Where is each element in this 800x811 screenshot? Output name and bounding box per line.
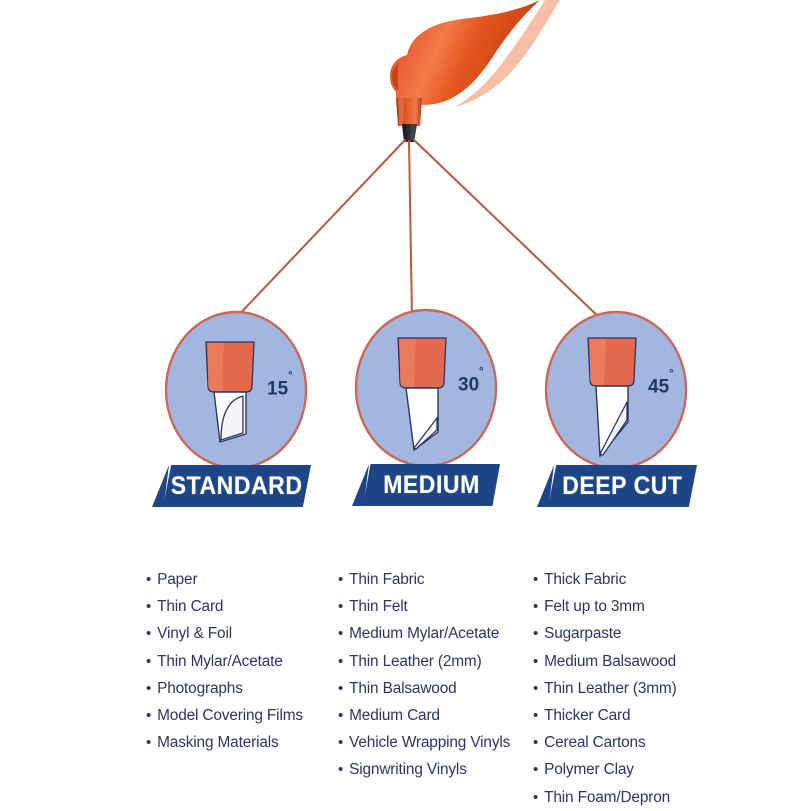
list-item: •Thin Foam/Depron [533, 784, 677, 811]
list-item: •Cereal Cartons [533, 729, 677, 756]
materials-column-deepcut: •Thick Fabric•Felt up to 3mm•Sugarpaste•… [533, 566, 677, 811]
bullet-icon: • [146, 593, 151, 620]
list-item: •Polymer Clay [533, 756, 677, 783]
list-item-label: Felt up to 3mm [544, 593, 645, 620]
list-item-label: Cereal Cartons [544, 729, 645, 756]
connector-lines [232, 140, 604, 322]
bullet-icon: • [146, 566, 151, 593]
list-item: •Model Covering Films [146, 702, 303, 729]
bullet-icon: • [338, 620, 343, 647]
list-item: •Thin Mylar/Acetate [146, 648, 303, 675]
list-item: •Thin Fabric [338, 566, 510, 593]
list-item: •Medium Card [338, 702, 510, 729]
list-item-label: Vehicle Wrapping Vinyls [349, 729, 510, 756]
list-item: •Thick Fabric [533, 566, 677, 593]
blade-group-standard[interactable]: 15° [156, 310, 316, 470]
bullet-icon: • [338, 729, 343, 756]
banner-medium[interactable]: MEDIUM [363, 464, 500, 506]
list-item-label: Signwriting Vinyls [349, 756, 467, 783]
list-item-label: Thin Leather (2mm) [349, 648, 481, 675]
bullet-icon: • [533, 648, 538, 675]
bullet-icon: • [338, 566, 343, 593]
list-item: •Thicker Card [533, 702, 677, 729]
list-item-label: Sugarpaste [544, 620, 621, 647]
bullet-icon: • [533, 566, 538, 593]
bullet-icon: • [338, 648, 343, 675]
list-item: •Medium Balsawood [533, 648, 677, 675]
bullet-icon: • [533, 675, 538, 702]
list-item: •Signwriting Vinyls [338, 756, 510, 783]
list-item-label: Model Covering Films [157, 702, 303, 729]
list-item-label: Vinyl & Foil [157, 620, 232, 647]
list-item: •Masking Materials [146, 729, 303, 756]
angle-label-standard: 15° [267, 378, 293, 400]
bullet-icon: • [146, 702, 151, 729]
list-item: •Thin Balsawood [338, 675, 510, 702]
banner-label-medium: MEDIUM [383, 471, 480, 500]
list-item: •Medium Mylar/Acetate [338, 620, 510, 647]
bullet-icon: • [146, 675, 151, 702]
list-item-label: Medium Balsawood [544, 648, 676, 675]
connector-line-standard [232, 140, 405, 322]
bullet-icon: • [533, 756, 538, 783]
list-item: •Paper [146, 566, 303, 593]
list-item-label: Medium Card [349, 702, 440, 729]
list-item-label: Thin Balsawood [349, 675, 456, 702]
list-item: •Thin Leather (2mm) [338, 648, 510, 675]
list-item: •Photographs [146, 675, 303, 702]
list-item-label: Photographs [157, 675, 243, 702]
bullet-icon: • [338, 702, 343, 729]
materials-lists: •Paper•Thin Card•Vinyl & Foil•Thin Mylar… [0, 566, 800, 800]
list-item: •Vehicle Wrapping Vinyls [338, 729, 510, 756]
bullet-icon: • [533, 620, 538, 647]
list-item-label: Thin Card [157, 593, 223, 620]
list-item-label: Paper [157, 566, 197, 593]
list-item-label: Polymer Clay [544, 756, 634, 783]
knife-handle [390, 0, 560, 142]
bullet-icon: • [338, 593, 343, 620]
blade-group-medium[interactable]: 30° [346, 308, 506, 468]
banner-standard[interactable]: STANDARD [163, 465, 311, 507]
list-item: •Sugarpaste [533, 620, 677, 647]
bullet-icon: • [338, 756, 343, 783]
blade-group-deepcut[interactable]: 45° [536, 310, 696, 470]
list-item-label: Thin Fabric [349, 566, 424, 593]
list-item-label: Thin Foam/Depron [544, 784, 670, 811]
list-item-label: Thin Felt [349, 593, 408, 620]
bullet-icon: • [146, 648, 151, 675]
list-item: •Thin Card [146, 593, 303, 620]
list-item: •Felt up to 3mm [533, 593, 677, 620]
connector-line-deepcut [414, 140, 604, 322]
materials-column-standard: •Paper•Thin Card•Vinyl & Foil•Thin Mylar… [146, 566, 303, 756]
list-item-label: Thick Fabric [544, 566, 626, 593]
materials-column-medium: •Thin Fabric•Thin Felt•Medium Mylar/Acet… [338, 566, 510, 784]
bullet-icon: • [338, 675, 343, 702]
blade-diagram-standard: 15° [164, 310, 308, 470]
angle-label-deepcut: 45° [648, 376, 674, 398]
list-item-label: Medium Mylar/Acetate [349, 620, 499, 647]
list-item-label: Thicker Card [544, 702, 630, 729]
bullet-icon: • [533, 702, 538, 729]
list-item-label: Masking Materials [157, 729, 278, 756]
list-item-label: Thin Leather (3mm) [544, 675, 676, 702]
blade-diagram-medium: 30° [354, 308, 498, 468]
list-item: •Thin Leather (3mm) [533, 675, 677, 702]
list-item-label: Thin Mylar/Acetate [157, 648, 283, 675]
bullet-icon: • [146, 729, 151, 756]
banner-label-deepcut: DEEP CUT [562, 472, 682, 501]
bullet-icon: • [533, 729, 538, 756]
banner-deepcut[interactable]: DEEP CUT [548, 465, 697, 507]
blade-diagram-deepcut: 45° [544, 310, 688, 470]
knife-blade-tip [402, 124, 417, 142]
bullet-icon: • [533, 593, 538, 620]
blade-angle-infographic: 15° STANDARD 30° MEDIUM [0, 0, 800, 800]
connector-line-medium [409, 141, 412, 318]
bullet-icon: • [146, 620, 151, 647]
list-item: •Thin Felt [338, 593, 510, 620]
bullet-icon: • [533, 784, 538, 811]
angle-label-medium: 30° [458, 374, 484, 396]
banner-label-standard: STANDARD [171, 472, 303, 501]
list-item: •Vinyl & Foil [146, 620, 303, 647]
